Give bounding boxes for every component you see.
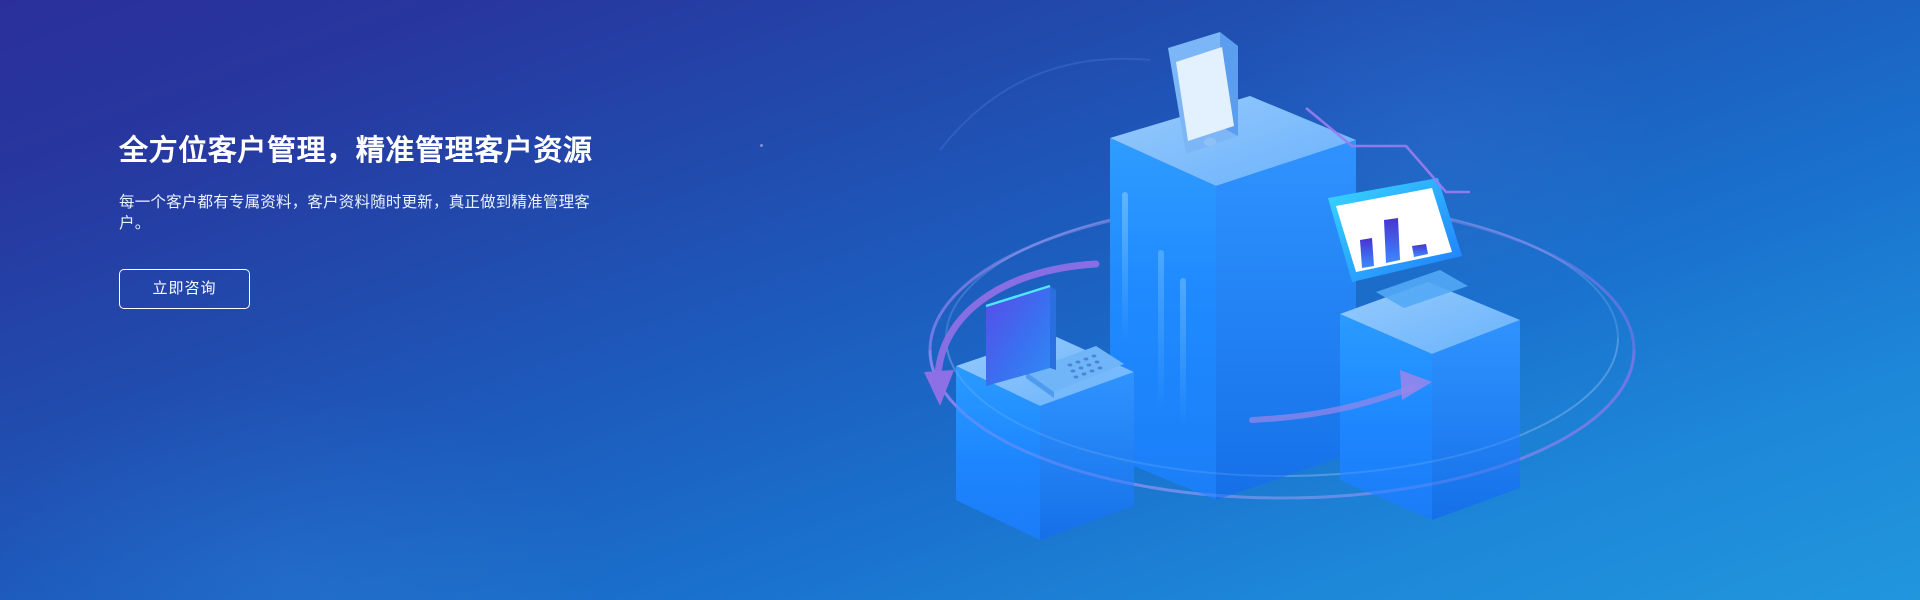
orbit-ring-thin: [946, 200, 1618, 476]
hero-illustration: [900, 20, 1660, 600]
background-sheen-right: [1120, 0, 1740, 400]
hero-copy-block: 全方位客户管理，精准管理客户资源 每一个客户都有专属资料，客户资料随时更新，真正…: [119, 131, 759, 309]
decorative-dot: [760, 144, 763, 147]
hero-subcopy: 每一个客户都有专属资料，客户资料随时更新，真正做到精准管理客户。: [119, 171, 599, 234]
center-pillar: [1110, 96, 1356, 500]
laptop-keys: [1068, 355, 1103, 379]
laptop-device: [986, 286, 1124, 398]
page-title: 全方位客户管理，精准管理客户资源: [119, 131, 759, 171]
hero-banner: 全方位客户管理，精准管理客户资源 每一个客户都有专属资料，客户资料随时更新，真正…: [0, 0, 1920, 600]
descending-arrow-left: [924, 264, 1096, 406]
consult-now-button[interactable]: 立即咨询: [119, 269, 250, 309]
monitor-device: [1328, 178, 1468, 308]
orbit-ring-front-thin: [946, 338, 1618, 476]
faint-arc-top-left: [940, 59, 1150, 150]
monitor-chart-bars: [1360, 218, 1428, 268]
right-pillar: [1340, 282, 1520, 520]
orbit-ring-front: [930, 350, 1634, 498]
tablet-device: [1168, 32, 1238, 154]
left-pillar: [956, 334, 1134, 540]
polyline-connector-top-right: [1306, 108, 1470, 192]
ascending-arrow-right: [1252, 370, 1432, 420]
background-sheen-left: [0, 300, 740, 600]
orbit-ring-back: [930, 202, 1634, 498]
